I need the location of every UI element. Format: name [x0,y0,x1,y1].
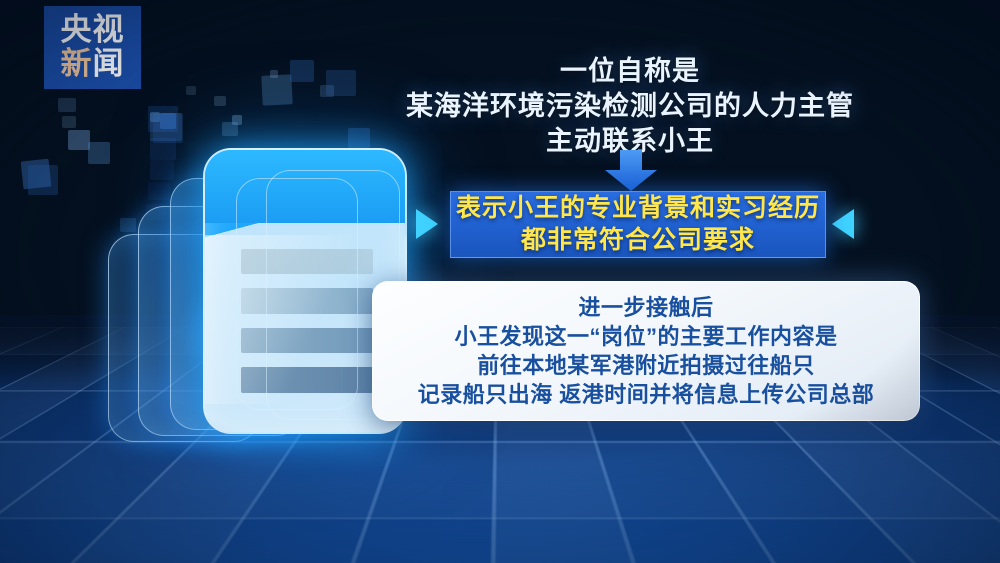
decor-square [28,165,58,195]
decor-square [261,74,293,106]
intro-text-block: 一位自称是 某海洋环境污染检测公司的人力主管 主动联系小王 [400,54,860,159]
highlight-line: 表示小王的专业背景和实习经历 [456,193,820,225]
logo-line-2: 新闻 [61,49,125,80]
intro-line: 某海洋环境污染检测公司的人力主管 [400,89,860,124]
decor-square [270,70,278,78]
broadcast-graphic-stage: 央视 新闻 一位自称是 某海洋环境污染检测公司的人力主管 主动联系小王 [0,0,1000,563]
decor-square [58,98,76,112]
triangle-left-icon [832,209,854,239]
highlight-line: 都非常符合公司要求 [521,225,755,257]
decor-square [290,60,314,82]
detail-line: 小王发现这一“岗位”的主要工作内容是 [454,322,837,351]
triangle-right-icon [416,209,438,239]
detail-line: 前往本地某军港附近拍摄过往船只 [477,351,815,380]
logo-accent-char: 新 [61,46,93,82]
decor-square [326,70,356,96]
logo-plain-char: 闻 [93,46,125,82]
highlight-callout-box: 表示小王的专业背景和实习经历 都非常符合公司要求 [450,191,826,258]
intro-line: 一位自称是 [400,54,860,89]
decor-square [186,86,196,95]
arrow-down-icon [604,150,658,192]
decor-square [214,96,226,106]
detail-line: 进一步接触后 [578,293,713,322]
logo-line-1: 央视 [61,15,125,46]
detail-callout-box: 进一步接触后 小王发现这一“岗位”的主要工作内容是 前往本地某军港附近拍摄过往船… [372,281,920,421]
detail-line: 记录船只出海 返港时间并将信息上传公司总部 [418,380,875,409]
decor-square [62,116,76,128]
cctv-news-logo: 央视 新闻 [44,6,141,89]
document-card-stack [60,130,420,460]
